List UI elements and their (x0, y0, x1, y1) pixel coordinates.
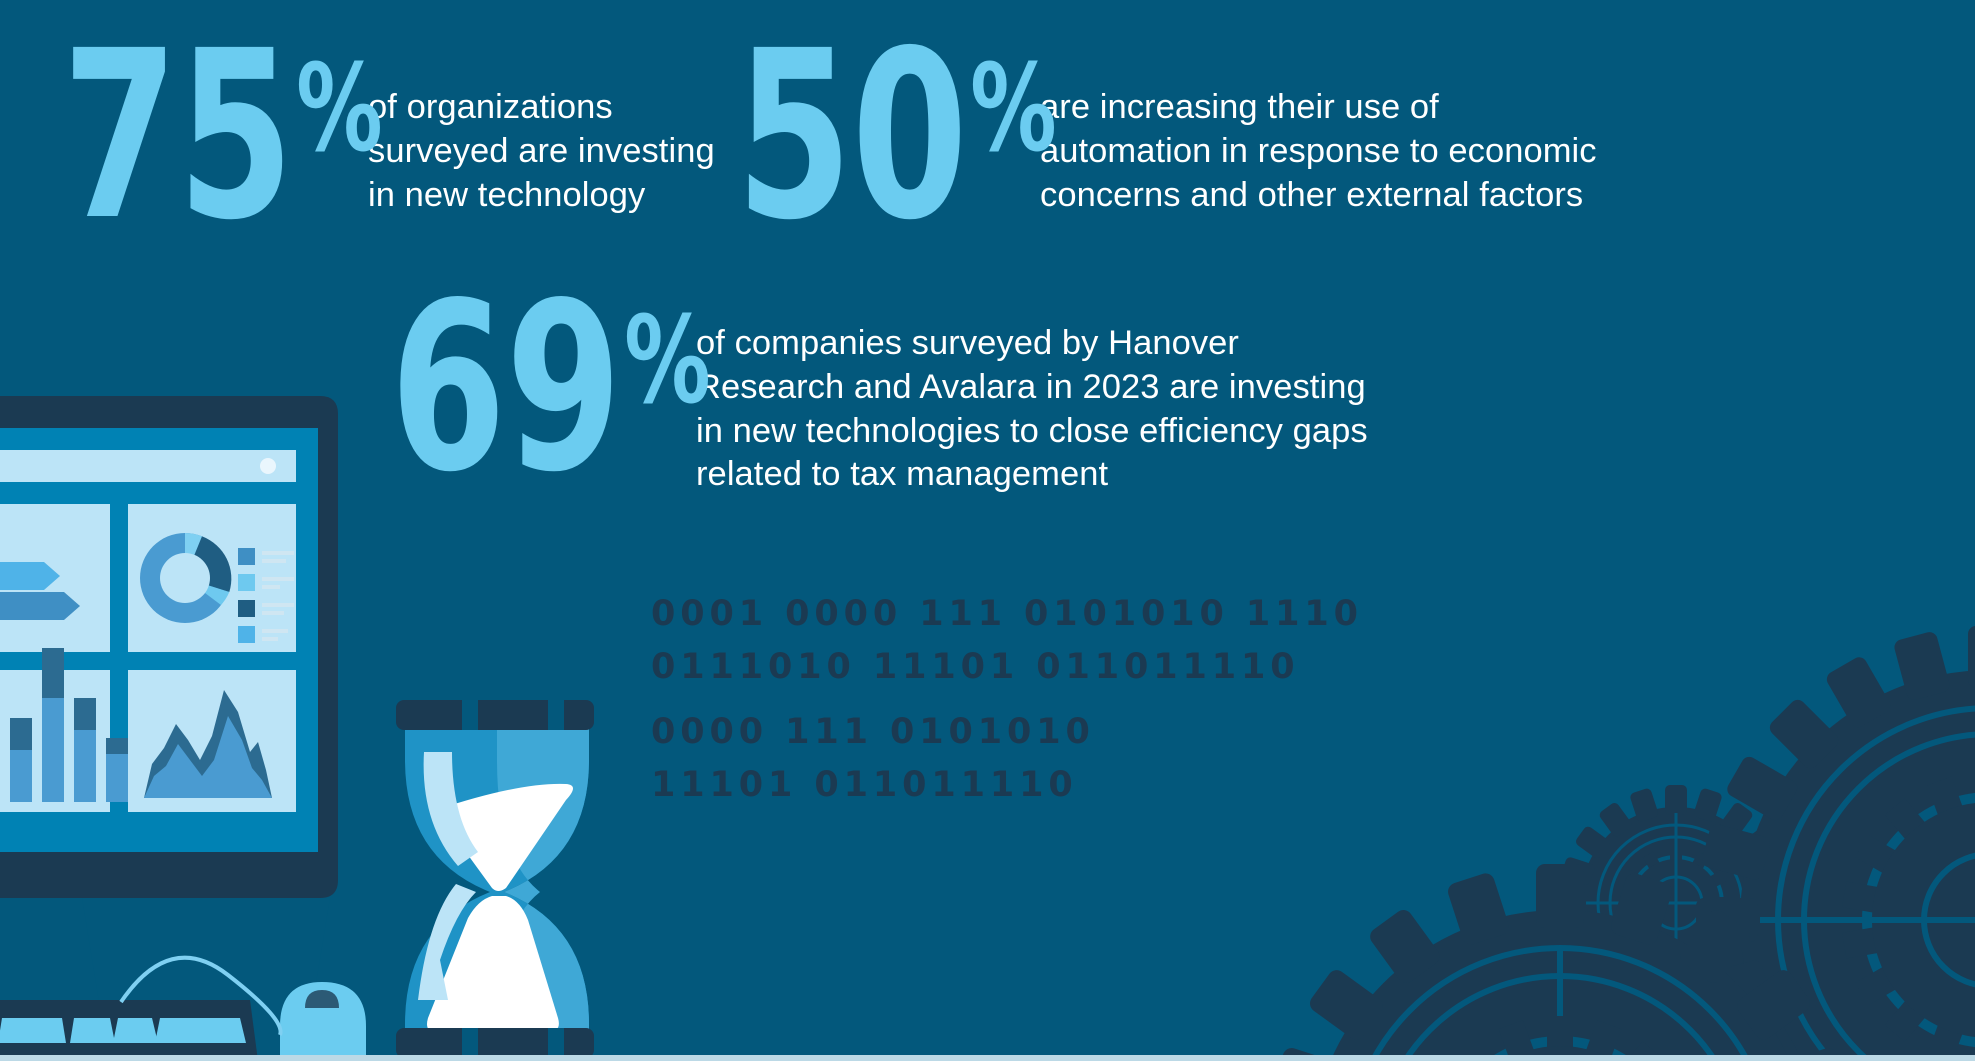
stat-number-69: 69 (390, 298, 621, 479)
hourglass-cap-top (396, 700, 594, 730)
stat-figure-50: 50% (736, 46, 952, 227)
stat-percent-sign-69: % (624, 302, 710, 422)
gear-large-bottom-icon (1264, 864, 1856, 1061)
arrow-bar-2 (0, 592, 80, 620)
infographic-canvas: 75% of organizations surveyed are invest… (0, 0, 1975, 1061)
stat-block-50: 50% are increasing their use of automati… (736, 46, 1597, 227)
area-chart (144, 690, 272, 798)
stat-figure-69: 69% (390, 298, 606, 479)
gear-cluster (1264, 626, 1975, 1061)
donut-chart (140, 533, 231, 623)
hourglass-cap-bottom (396, 1028, 594, 1058)
stat-body-50: are increasing their use of automation i… (1040, 86, 1597, 217)
gear-large-right-icon (1696, 626, 1975, 1061)
arrow-bar-1 (0, 562, 60, 590)
gear-small-icon (1558, 785, 1794, 1021)
bottom-edge-strip (0, 1055, 1975, 1061)
stat-block-75: 75% of organizations surveyed are invest… (62, 46, 715, 227)
computer-mouse (121, 958, 366, 1061)
donut-legend (238, 548, 294, 643)
keyboard-keys (0, 1018, 246, 1043)
stat-percent-sign-75: % (296, 50, 382, 170)
desktop-computer-illustration (0, 396, 366, 1061)
stat-body-69: of companies surveyed by Hanover Researc… (696, 322, 1368, 497)
stat-percent-sign-50: % (970, 50, 1056, 170)
stat-number-75: 75 (62, 46, 293, 227)
stat-block-69: 69% of companies surveyed by Hanover Res… (390, 298, 1368, 497)
stat-number-50: 50 (736, 46, 967, 227)
stat-body-75: of organizations surveyed are investing … (368, 86, 715, 217)
binary-text-block-1: 0001 0000 111 0101010 1110 0111010 11101… (651, 588, 1363, 693)
hourglass-illustration (396, 700, 594, 1061)
bar-chart (10, 648, 128, 802)
stat-figure-75: 75% (62, 46, 278, 227)
binary-text-block-2: 0000 111 0101010 11101 011011110 (651, 706, 1095, 811)
